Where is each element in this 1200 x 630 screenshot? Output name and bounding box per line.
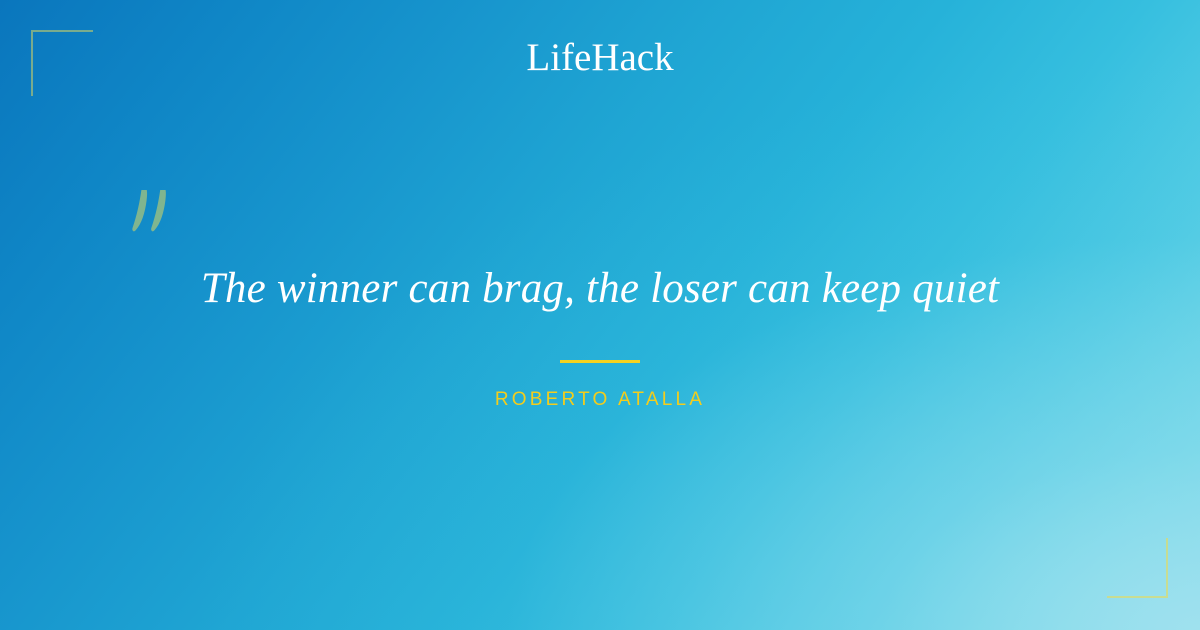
- quote-card: LifeHack The winner can brag, the loser …: [0, 0, 1200, 630]
- corner-bracket-bottom-right-icon: [1107, 538, 1168, 598]
- quote-block: The winner can brag, the loser can keep …: [0, 262, 1200, 411]
- quote-divider: [560, 360, 640, 363]
- quote-author: ROBERTO ATALLA: [0, 389, 1200, 411]
- lifehack-logo: LifeHack: [0, 38, 1200, 77]
- quote-mark-icon: [128, 186, 174, 246]
- quote-text: The winner can brag, the loser can keep …: [150, 262, 1050, 316]
